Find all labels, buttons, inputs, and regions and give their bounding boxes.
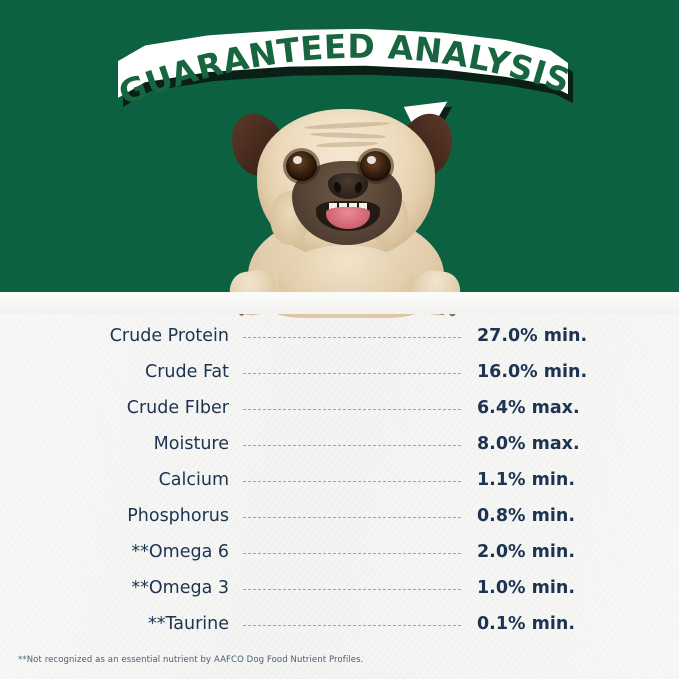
nutrient-label: Crude Fat bbox=[0, 362, 237, 382]
nutrient-value: 2.0% min. bbox=[467, 542, 679, 562]
leader-dashes bbox=[243, 553, 461, 555]
eye-glint bbox=[367, 156, 376, 164]
nutrition-row: Phosphorus 0.8% min. bbox=[0, 498, 679, 534]
nutrient-label: Phosphorus bbox=[0, 506, 237, 526]
leader-dashes bbox=[243, 373, 461, 375]
nutrient-value: 16.0% min. bbox=[467, 362, 679, 382]
nutrition-list: Crude Protein 27.0% min. Crude Fat 16.0%… bbox=[0, 318, 679, 642]
nutrient-value: 1.1% min. bbox=[467, 470, 679, 490]
nutrient-value: 0.8% min. bbox=[467, 506, 679, 526]
nutrient-label: Moisture bbox=[0, 434, 237, 454]
nutrition-row: Crude Fat 16.0% min. bbox=[0, 354, 679, 390]
dog-nostril-left bbox=[333, 181, 343, 194]
nutrient-value: 8.0% max. bbox=[467, 434, 679, 454]
nutrient-label: **Omega 3 bbox=[0, 578, 237, 598]
nutrition-row: Crude FIber 6.4% max. bbox=[0, 390, 679, 426]
nutrition-row: **Omega 6 2.0% min. bbox=[0, 534, 679, 570]
leader-dashes bbox=[243, 337, 461, 339]
paper-ledge-edge bbox=[0, 292, 679, 314]
nutrient-value: 27.0% min. bbox=[467, 326, 679, 346]
nutrient-value: 0.1% min. bbox=[467, 614, 679, 634]
nutrient-label: **Omega 6 bbox=[0, 542, 237, 562]
dog-eye-left bbox=[286, 151, 317, 181]
nutrient-label: Crude Protein bbox=[0, 326, 237, 346]
nutrient-value: 1.0% min. bbox=[467, 578, 679, 598]
leader-dashes bbox=[243, 481, 461, 483]
eye-glint bbox=[293, 156, 302, 164]
nutrition-row: Crude Protein 27.0% min. bbox=[0, 318, 679, 354]
nutrition-row: **Taurine 0.1% min. bbox=[0, 606, 679, 642]
nutrition-row: Moisture 8.0% max. bbox=[0, 426, 679, 462]
nutrient-label: Crude FIber bbox=[0, 398, 237, 418]
leader-dashes bbox=[243, 409, 461, 411]
dog-nostril-right bbox=[354, 181, 364, 194]
nutrient-label: Calcium bbox=[0, 470, 237, 490]
leader-dashes bbox=[243, 517, 461, 519]
nutrient-label: **Taurine bbox=[0, 614, 237, 634]
pug-dog-image bbox=[200, 95, 490, 305]
leader-dashes bbox=[243, 625, 461, 627]
nutrition-row: Calcium 1.1% min. bbox=[0, 462, 679, 498]
leader-dashes bbox=[243, 589, 461, 591]
nutrition-row: **Omega 3 1.0% min. bbox=[0, 570, 679, 606]
leader-dashes bbox=[243, 445, 461, 447]
footnote-text: **Not recognized as an essential nutrien… bbox=[18, 655, 363, 665]
nutrient-value: 6.4% max. bbox=[467, 398, 679, 418]
guaranteed-analysis-poster: GUARANTEED ANALYSIS bbox=[0, 0, 679, 679]
